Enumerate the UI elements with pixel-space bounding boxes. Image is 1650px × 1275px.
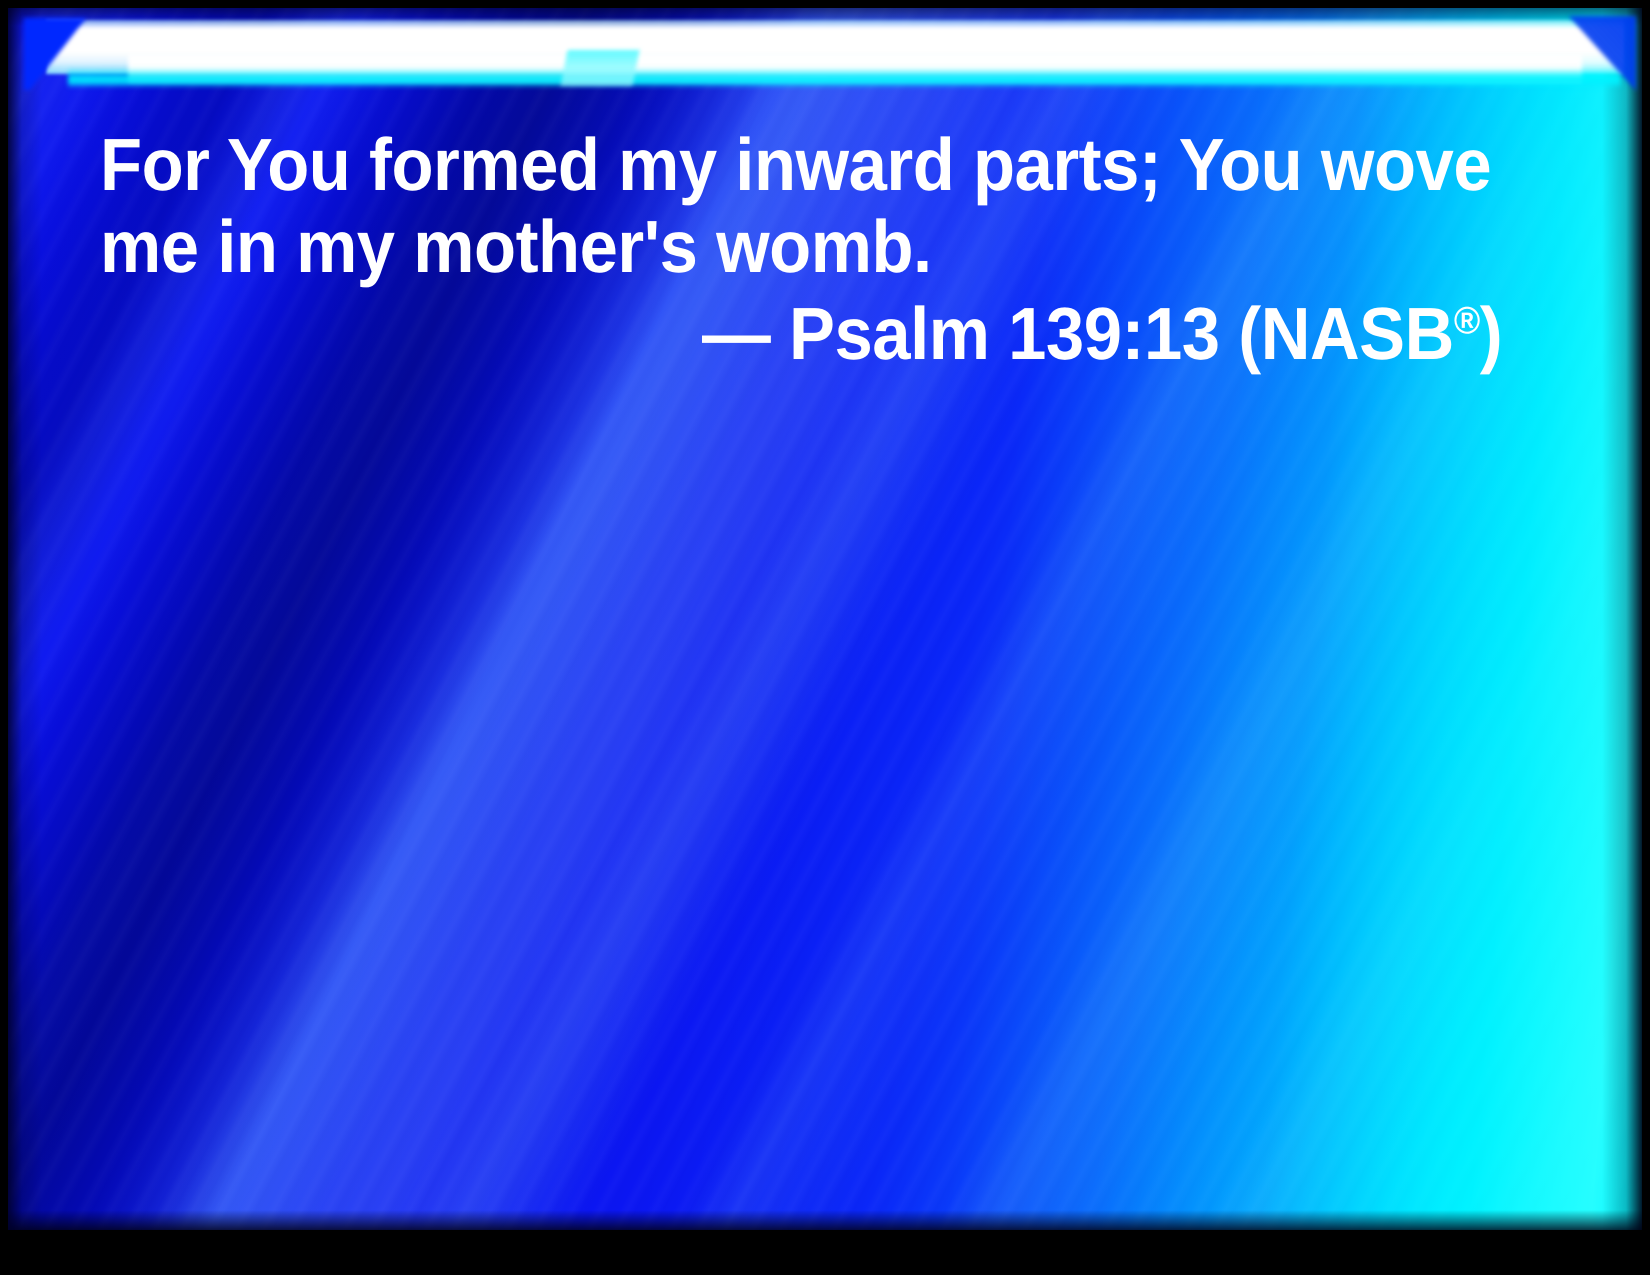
top-band-left-taper [24,18,114,90]
citation-close-paren: ) [1480,292,1502,375]
verse-line-2: me in my mother's womb. [100,206,932,288]
citation-reference-text: — Psalm 139:13 (NASB [702,292,1454,375]
top-band-cyan-notch [561,50,640,86]
scripture-slide: For You formed my inward parts; You wove… [0,0,1650,1275]
top-band-cyan-edge [68,68,1620,88]
registered-trademark-icon: ® [1454,299,1480,342]
bottom-black-bar [0,1230,1650,1275]
slide-artwork-stage: For You formed my inward parts; You wove… [8,8,1642,1230]
verse-line-1: For You formed my inward parts; You wove [100,124,1491,206]
top-band-right-taper [1540,16,1636,94]
verse-citation: — Psalm 139:13 (NASB®) [702,293,1502,375]
top-highlight-band [8,8,1642,104]
